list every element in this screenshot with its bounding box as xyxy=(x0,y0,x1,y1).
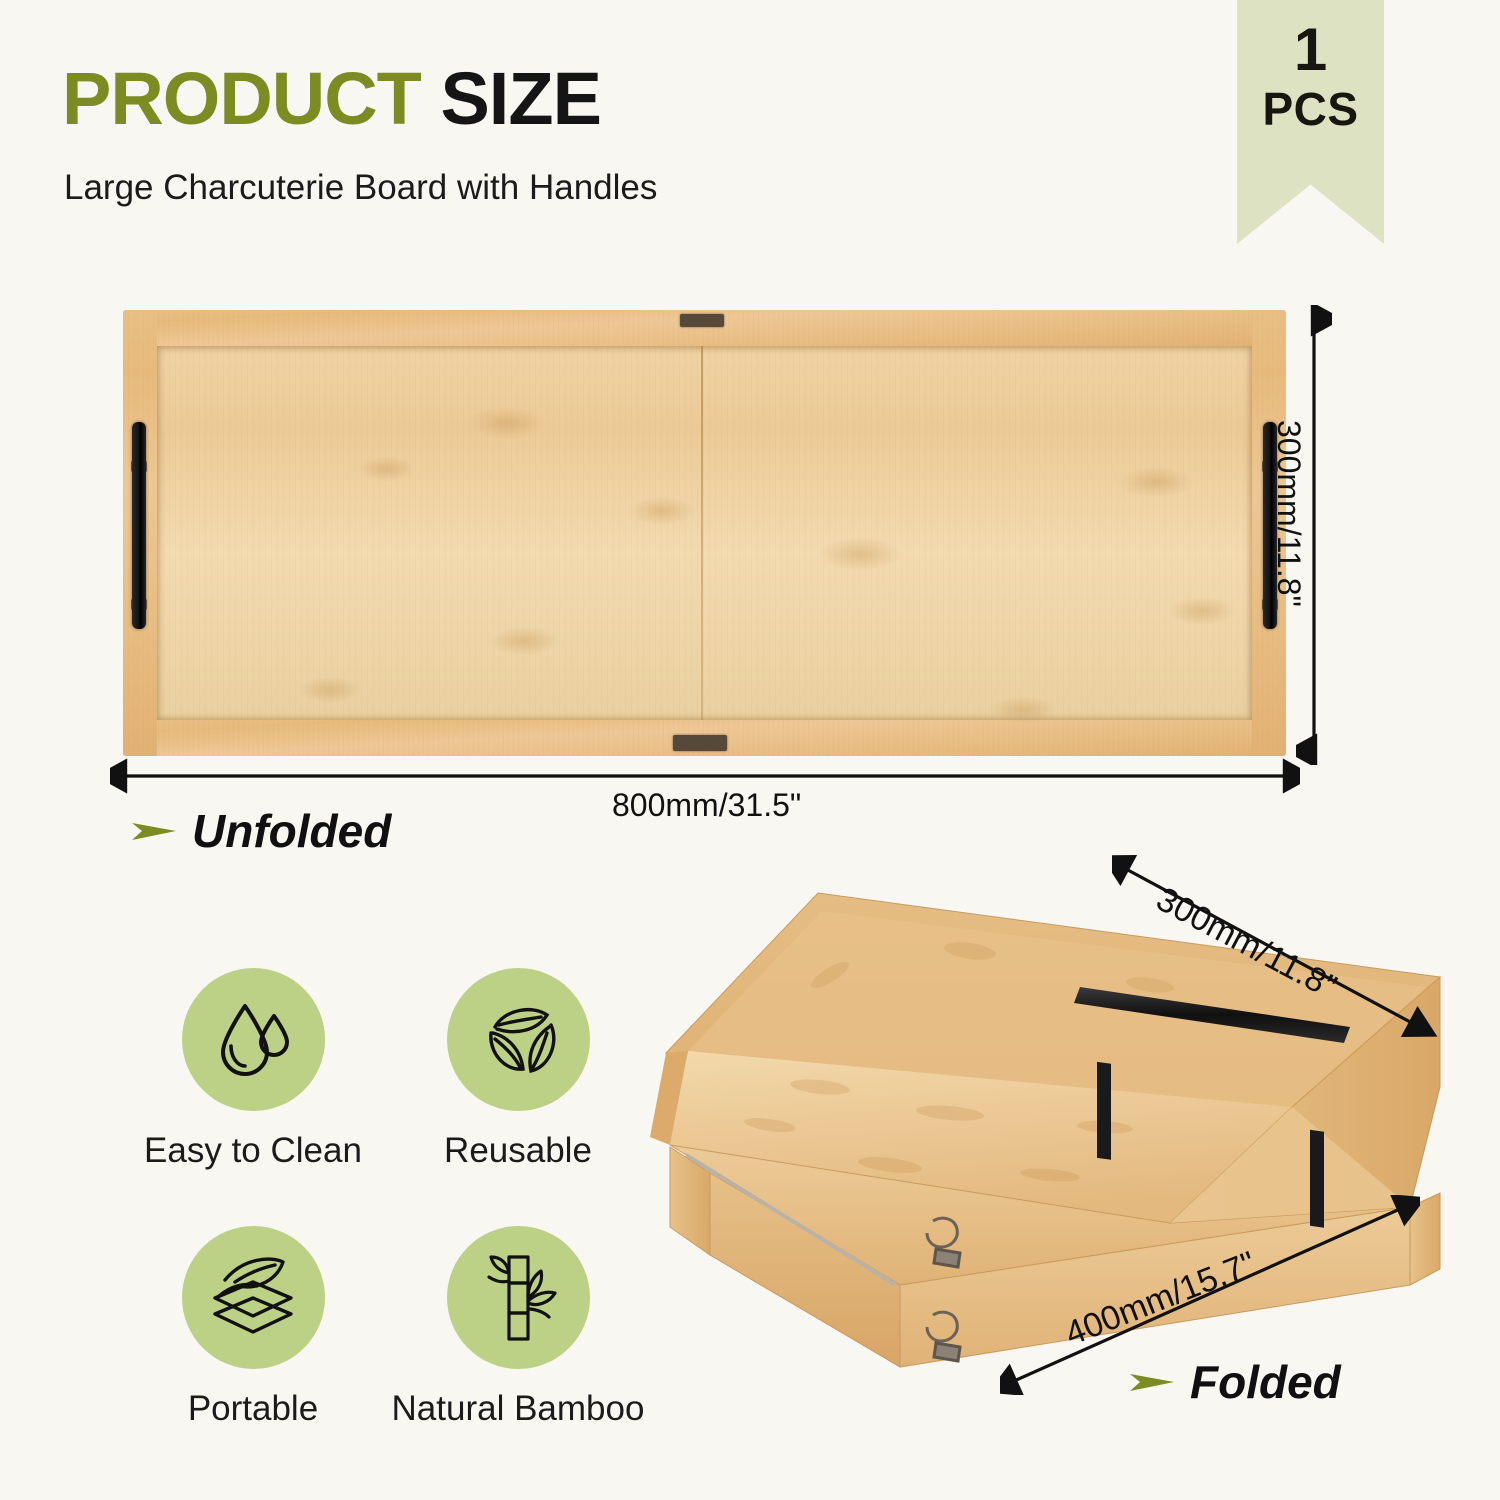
page-title: PRODUCT SIZE xyxy=(62,62,601,136)
center-hinge-bottom xyxy=(673,735,727,751)
feature-easy-to-clean: Easy to Clean xyxy=(118,968,388,1171)
feature-icon-circle xyxy=(182,1226,325,1369)
recycle-leaves-icon xyxy=(475,997,561,1083)
unfolded-width-label: 800mm/31.5" xyxy=(612,787,801,824)
bamboo-stalk-icon xyxy=(473,1251,563,1345)
feature-natural-bamboo: Natural Bamboo xyxy=(383,1226,653,1429)
quantity-count: 1 xyxy=(1294,20,1327,80)
feature-icon-circle xyxy=(447,1226,590,1369)
feature-label: Natural Bamboo xyxy=(383,1389,653,1429)
feature-label: Reusable xyxy=(383,1131,653,1171)
page-title-size: SIZE xyxy=(440,57,600,140)
feature-icon-circle xyxy=(447,968,590,1111)
left-handle-bar xyxy=(132,422,146,629)
folded-caption-label: Folded xyxy=(1190,1355,1341,1409)
unfolded-caption-label: Unfolded xyxy=(192,804,391,858)
feature-portable: Portable xyxy=(118,1226,388,1429)
unfolded-height-label: 300mm/11.8" xyxy=(1270,420,1307,607)
water-drop-icon xyxy=(207,994,299,1086)
page-title-product: PRODUCT xyxy=(62,57,421,140)
feature-icon-circle xyxy=(182,968,325,1111)
chevron-right-marker-icon xyxy=(1130,1369,1174,1395)
feature-reusable: Reusable xyxy=(383,968,653,1171)
tray-rim xyxy=(123,310,1286,756)
stacked-layers-leaf-icon xyxy=(205,1252,301,1344)
center-hinge-top xyxy=(680,314,724,327)
chevron-right-marker-icon xyxy=(132,818,176,844)
unfolded-tray-image xyxy=(123,310,1286,756)
feature-label: Portable xyxy=(118,1389,388,1429)
unfolded-caption: Unfolded xyxy=(132,804,391,858)
quantity-unit: PCS xyxy=(1262,86,1358,132)
tray-floor xyxy=(157,346,1252,720)
feature-label: Easy to Clean xyxy=(118,1131,388,1171)
quantity-ribbon-badge: 1 PCS xyxy=(1237,0,1384,244)
folded-caption: Folded xyxy=(1130,1355,1341,1409)
page-subtitle: Large Charcuterie Board with Handles xyxy=(64,168,657,208)
